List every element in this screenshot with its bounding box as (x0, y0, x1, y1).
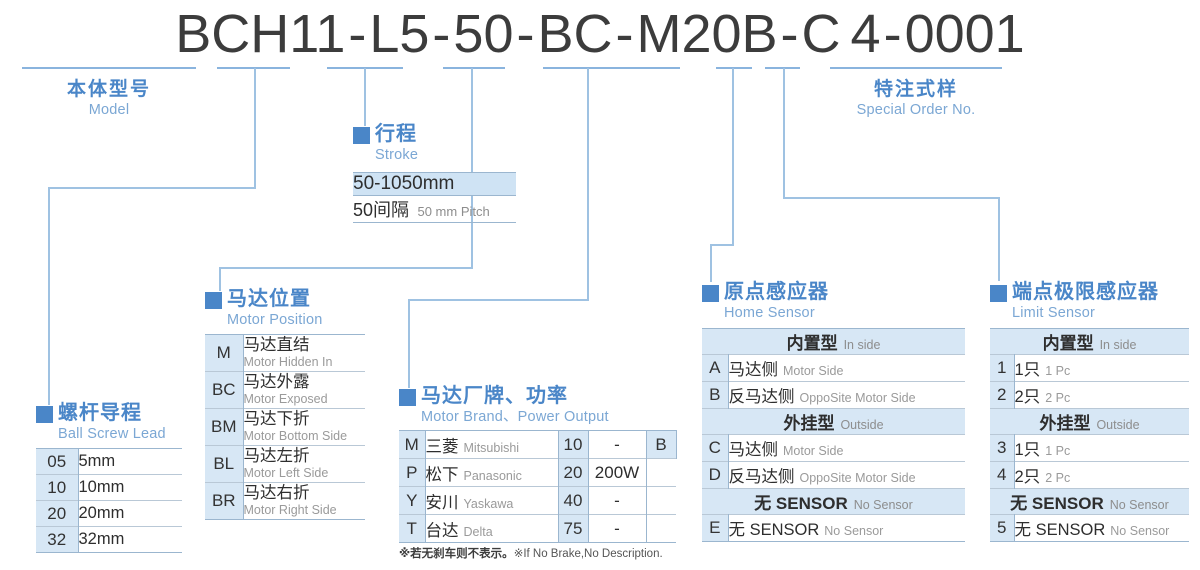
code-cell: 75 (558, 515, 588, 543)
description-cn: 马达左折 (244, 447, 366, 466)
section-header-cn: 内置型 (1043, 334, 1094, 353)
group-title-cn: 原点感应器 (724, 281, 829, 304)
table-section-header: 外挂型Outside (990, 409, 1189, 435)
table-row: 42只2 Pc (990, 462, 1189, 489)
section-header-cell: 外挂型Outside (702, 409, 965, 435)
table-row: B反马达侧OppoSite Motor Side (702, 382, 965, 409)
description-cell: 反马达侧OppoSite Motor Side (728, 382, 965, 409)
code-cell: 20 (558, 459, 588, 487)
ball-screw-lead-table: 055mm1010mm2020mm3232mm (36, 448, 182, 553)
description-cell: 20mm (78, 501, 182, 527)
table-row: BL马达左折Motor Left Side (205, 446, 365, 483)
description-en: Motor Right Side (244, 503, 366, 518)
section-header-cn: 内置型 (787, 334, 838, 353)
group-title-en: Stroke (375, 146, 418, 164)
description-en: Motor Side (783, 444, 843, 458)
description-cn: 无 SENSOR (729, 521, 820, 539)
code-cell: 4 (990, 462, 1014, 489)
section-header-en: Outside (840, 418, 883, 432)
description-cell: 三菱Mitsubishi (425, 431, 558, 459)
description-cn: 2只 (1015, 468, 1041, 486)
description-cell: 台达Delta (425, 515, 558, 543)
table-section-header: 内置型In side (990, 329, 1189, 355)
bullet-square-icon (990, 285, 1007, 302)
code-cell: 10 (36, 475, 78, 501)
code-cell: D (702, 462, 728, 489)
stroke-pitch-en: 50 mm Pitch (417, 204, 489, 219)
section-header-cell: 无 SENSORNo Sensor (990, 489, 1189, 515)
description-cn: 1只 (1015, 441, 1041, 459)
bullet-square-icon (702, 285, 719, 302)
table-section-header: 内置型In side (702, 329, 965, 355)
table-row: 31只1 Pc (990, 435, 1189, 462)
group-title-cn: 行程 (375, 123, 418, 146)
description-en: 1 Pc (1045, 364, 1070, 378)
description-en: Panasonic (464, 469, 522, 483)
description-en: Motor Left Side (244, 466, 366, 481)
description-en: Motor Hidden In (244, 355, 366, 370)
brake-cell (646, 487, 676, 515)
description-cell: 安川Yaskawa (425, 487, 558, 515)
description-en: 2 Pc (1045, 471, 1070, 485)
home-sensor-table: 内置型In sideA马达侧Motor SideB反马达侧OppoSite Mo… (702, 328, 965, 542)
description-cn: 台达 (426, 522, 459, 540)
description-cn: 反马达侧 (729, 388, 795, 406)
group-title-cn: 特注式样 (874, 78, 958, 101)
code-cell: Y (399, 487, 425, 515)
group-title-cn: 马达位置 (227, 288, 311, 311)
table-row: E无 SENSORNo Sensor (702, 515, 965, 542)
table-row: M三菱Mitsubishi10-B (399, 431, 676, 459)
table-row: 50-1050mm (353, 173, 516, 196)
group-title-en: Model (89, 101, 130, 119)
table-row: A马达侧Motor Side (702, 355, 965, 382)
brake-cell (646, 459, 676, 487)
description-cn: 马达侧 (729, 441, 779, 459)
description-en: Motor Exposed (244, 392, 366, 407)
table-row: 5无 SENSORNo Sensor (990, 515, 1189, 542)
group-title-en: Ball Screw Lead (58, 425, 182, 443)
power-cell: - (588, 431, 646, 459)
table-row: D反马达侧OppoSite Motor Side (702, 462, 965, 489)
description-cn: 马达侧 (729, 361, 779, 379)
group-limit-sensor: 端点极限感应器 Limit Sensor 内置型In side11只1 Pc22… (990, 281, 1189, 542)
description-cn: 32mm (79, 530, 125, 548)
bullet-square-icon (353, 127, 370, 144)
table-row: BR马达右折Motor Right Side (205, 483, 365, 520)
group-motor-brand: 马达厂牌、功率 Motor Brand、Power Output M三菱Mits… (399, 385, 677, 561)
code-cell: E (702, 515, 728, 542)
table-section-header: 无 SENSORNo Sensor (702, 489, 965, 515)
section-header-cell: 内置型In side (702, 329, 965, 355)
bullet-square-icon (36, 406, 53, 423)
description-cn: 10mm (79, 478, 125, 496)
section-header-cn: 无 SENSOR (754, 494, 848, 513)
code-cell: 10 (558, 431, 588, 459)
table-row: 2020mm (36, 501, 182, 527)
group-title-en: Limit Sensor (1012, 304, 1189, 322)
bullet-square-icon (205, 292, 222, 309)
description-cell: 马达下折Motor Bottom Side (243, 409, 365, 446)
section-header-cell: 无 SENSORNo Sensor (702, 489, 965, 515)
description-en: Yaskawa (464, 497, 514, 511)
table-row: T台达Delta75- (399, 515, 676, 543)
code-cell: 1 (990, 355, 1014, 382)
code-cell: 05 (36, 449, 78, 475)
code-cell: T (399, 515, 425, 543)
description-cell: 马达外露Motor Exposed (243, 372, 365, 409)
group-title-en: Motor Position (227, 311, 365, 329)
group-title-cn: 本体型号 (67, 78, 151, 101)
description-cn: 无 SENSOR (1015, 521, 1106, 539)
group-title-en: Special Order No. (857, 101, 976, 119)
stroke-range: 50-1050mm (353, 173, 516, 196)
description-cn: 马达直结 (244, 336, 366, 355)
section-header-en: In side (1100, 338, 1137, 352)
table-row: M马达直结Motor Hidden In (205, 335, 365, 372)
stroke-pitch-cn: 50间隔 (353, 200, 409, 220)
table-section-header: 无 SENSORNo Sensor (990, 489, 1189, 515)
description-en: OppoSite Motor Side (800, 391, 916, 405)
description-en: 2 Pc (1045, 391, 1070, 405)
section-header-en: In side (844, 338, 881, 352)
group-title-en: Motor Brand、Power Output (421, 408, 677, 426)
code-cell: BM (205, 409, 243, 446)
motor-brand-footnote: ※若无刹车则不表示。※If No Brake,No Description. (399, 547, 677, 561)
table-row: 055mm (36, 449, 182, 475)
group-model: 本体型号 Model (22, 78, 196, 119)
motor-position-table: M马达直结Motor Hidden InBC马达外露Motor ExposedB… (205, 334, 365, 520)
description-cell: 马达侧Motor Side (728, 355, 965, 382)
section-header-cell: 内置型In side (990, 329, 1189, 355)
description-cn: 2只 (1015, 388, 1041, 406)
description-cell: 无 SENSORNo Sensor (728, 515, 965, 542)
section-header-cn: 外挂型 (783, 414, 834, 433)
description-cell: 马达左折Motor Left Side (243, 446, 365, 483)
description-en: Mitsubishi (464, 441, 520, 455)
description-cell: 2只2 Pc (1014, 382, 1189, 409)
table-section-header: 外挂型Outside (702, 409, 965, 435)
table-row: BC马达外露Motor Exposed (205, 372, 365, 409)
table-row: Y安川Yaskawa40- (399, 487, 676, 515)
brake-cell (646, 515, 676, 543)
group-title-cn: 端点极限感应器 (1012, 281, 1159, 304)
stroke-pitch: 50间隔 50 mm Pitch (353, 196, 516, 223)
table-row: 1010mm (36, 475, 182, 501)
description-en: Delta (464, 525, 493, 539)
description-cell: 松下Panasonic (425, 459, 558, 487)
group-stroke: 行程 Stroke 50-1050mm 50间隔 50 mm Pitch (353, 123, 516, 223)
description-en: 1 Pc (1045, 444, 1070, 458)
code-cell: 32 (36, 527, 78, 553)
product-code-diagram: BCH11 - L5 - 50 - BC - M20B - C 4 - 0001 (0, 0, 1200, 570)
footnote-cn: ※若无刹车则不表示。 (399, 548, 514, 560)
group-title-cn: 螺杆导程 (58, 402, 142, 425)
code-cell: 5 (990, 515, 1014, 542)
group-special-order: 特注式样 Special Order No. (830, 78, 1002, 119)
description-cell: 5mm (78, 449, 182, 475)
description-cell: 1只1 Pc (1014, 435, 1189, 462)
code-cell: BL (205, 446, 243, 483)
description-cn: 安川 (426, 494, 459, 512)
table-row: 22只2 Pc (990, 382, 1189, 409)
description-cn: 20mm (79, 504, 125, 522)
description-cell: 反马达侧OppoSite Motor Side (728, 462, 965, 489)
power-cell: 200W (588, 459, 646, 487)
section-header-en: No Sensor (854, 498, 913, 512)
brake-cell: B (646, 431, 676, 459)
code-cell: 40 (558, 487, 588, 515)
table-row: 3232mm (36, 527, 182, 553)
description-cell: 32mm (78, 527, 182, 553)
description-cell: 马达右折Motor Right Side (243, 483, 365, 520)
section-header-cn: 外挂型 (1039, 414, 1090, 433)
section-header-cell: 外挂型Outside (990, 409, 1189, 435)
code-cell: M (205, 335, 243, 372)
description-cn: 5mm (79, 452, 116, 470)
bullet-square-icon (399, 389, 416, 406)
description-en: OppoSite Motor Side (800, 471, 916, 485)
description-en: No Sensor (1110, 524, 1169, 538)
description-cell: 2只2 Pc (1014, 462, 1189, 489)
power-cell: - (588, 487, 646, 515)
limit-sensor-table: 内置型In side11只1 Pc22只2 Pc外挂型Outside31只1 P… (990, 328, 1189, 542)
description-cn: 反马达侧 (729, 468, 795, 486)
code-cell: C (702, 435, 728, 462)
section-header-cn: 无 SENSOR (1010, 494, 1104, 513)
group-title-en: Home Sensor (724, 304, 965, 322)
stroke-table: 50-1050mm 50间隔 50 mm Pitch (353, 172, 516, 223)
group-motor-position: 马达位置 Motor Position M马达直结Motor Hidden In… (205, 288, 365, 520)
description-en: Motor Side (783, 364, 843, 378)
description-cell: 10mm (78, 475, 182, 501)
code-cell: 2 (990, 382, 1014, 409)
group-home-sensor: 原点感应器 Home Sensor 内置型In sideA马达侧Motor Si… (702, 281, 965, 542)
description-cell: 马达侧Motor Side (728, 435, 965, 462)
group-title-cn: 马达厂牌、功率 (421, 385, 568, 408)
description-cell: 马达直结Motor Hidden In (243, 335, 365, 372)
motor-brand-table: M三菱Mitsubishi10-BP松下Panasonic20200WY安川Ya… (399, 430, 677, 543)
code-cell: 20 (36, 501, 78, 527)
description-cn: 马达下折 (244, 410, 366, 429)
table-row: C马达侧Motor Side (702, 435, 965, 462)
description-en: No Sensor (824, 524, 883, 538)
section-header-en: No Sensor (1110, 498, 1169, 512)
description-cell: 1只1 Pc (1014, 355, 1189, 382)
group-ball-screw-lead: 螺杆导程 Ball Screw Lead 055mm1010mm2020mm32… (36, 402, 182, 553)
code-cell: P (399, 459, 425, 487)
description-cn: 三菱 (426, 438, 459, 456)
description-cell: 无 SENSORNo Sensor (1014, 515, 1189, 542)
description-cn: 松下 (426, 466, 459, 484)
power-cell: - (588, 515, 646, 543)
table-row: P松下Panasonic20200W (399, 459, 676, 487)
description-cn: 1只 (1015, 361, 1041, 379)
code-cell: 3 (990, 435, 1014, 462)
description-en: Motor Bottom Side (244, 429, 366, 444)
table-row: 50间隔 50 mm Pitch (353, 196, 516, 223)
code-cell: M (399, 431, 425, 459)
code-cell: BR (205, 483, 243, 520)
footnote-en: ※If No Brake,No Description. (514, 548, 663, 560)
table-row: BM马达下折Motor Bottom Side (205, 409, 365, 446)
code-cell: BC (205, 372, 243, 409)
description-cn: 马达外露 (244, 373, 366, 392)
code-cell: B (702, 382, 728, 409)
section-header-en: Outside (1096, 418, 1139, 432)
table-row: 11只1 Pc (990, 355, 1189, 382)
code-cell: A (702, 355, 728, 382)
description-cn: 马达右折 (244, 484, 366, 503)
